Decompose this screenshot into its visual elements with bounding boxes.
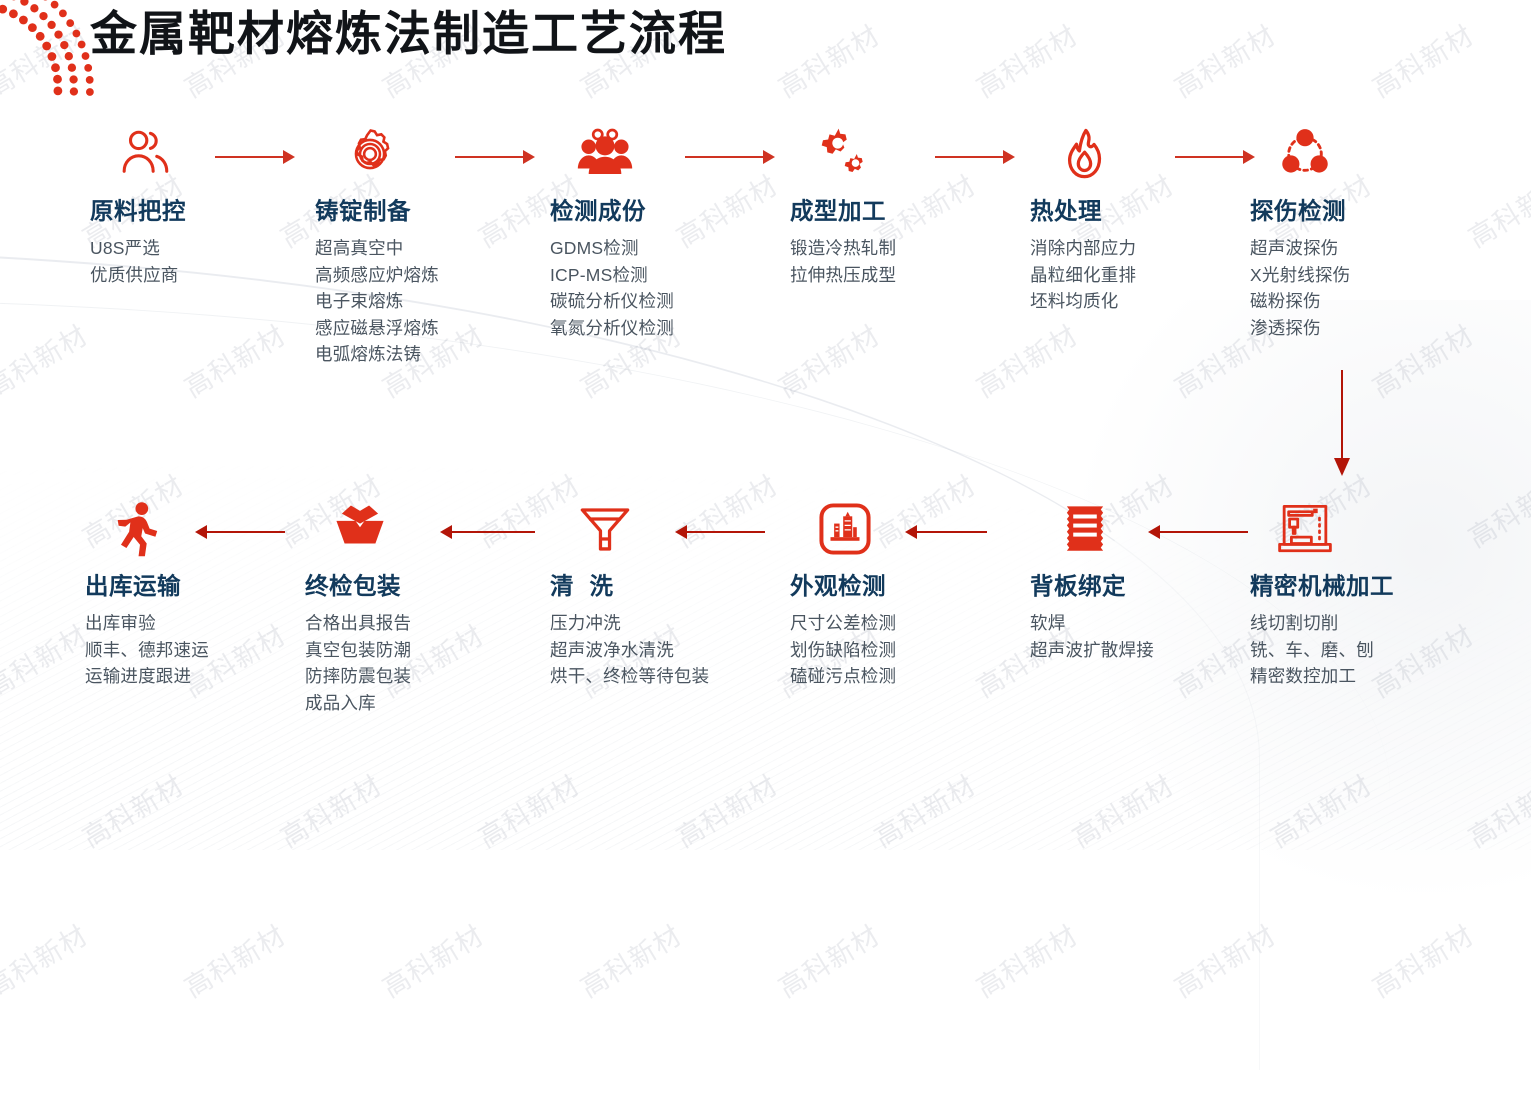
process-step-detail: 合格出具报告 (305, 610, 535, 637)
arrow-shaft (215, 156, 285, 158)
watermark-text: 高科新材 (176, 314, 292, 405)
process-step-detail: 顺丰、德邦速运 (85, 637, 315, 664)
process-step-detail-list: 线切割切削铣、车、磨、刨精密数控加工 (1250, 610, 1480, 690)
two-gears-icon (816, 125, 874, 183)
watermark-text: 高科新材 (176, 914, 292, 1005)
process-step-detail: X光射线探伤 (1250, 262, 1480, 289)
arrow-head (1148, 525, 1160, 539)
arc-dot (39, 12, 47, 20)
flame-icon (1056, 125, 1114, 183)
flow-arrow-right (935, 150, 1015, 164)
process-step-detail-list: 合格出具报告真空包装防潮防摔防震包装成品入库 (305, 610, 535, 716)
arrow-shaft (1175, 156, 1245, 158)
arrow-head (905, 525, 917, 539)
arrow-shaft (455, 156, 525, 158)
background-swoosh-curve-inner (0, 300, 1390, 1120)
arrow-shaft (935, 156, 1005, 158)
process-step-detail: 压力冲洗 (550, 610, 780, 637)
inspection-frame-icon (816, 500, 874, 558)
watermark-text: 高科新材 (1262, 764, 1378, 855)
arc-dot (86, 76, 94, 84)
process-step-detail: 线切割切削 (1250, 610, 1480, 637)
arrow-head (675, 525, 687, 539)
process-step-detail: U8S严选 (90, 235, 320, 262)
watermark-text: 高科新材 (968, 14, 1084, 105)
process-step-detail: 拉伸热压成型 (790, 262, 1020, 289)
walking-person-icon (111, 500, 169, 558)
arc-dot (78, 41, 86, 49)
two-people-icon (116, 125, 174, 183)
arc-dot (84, 64, 92, 72)
flow-arrow-right (215, 150, 295, 164)
arc-dot (51, 63, 60, 72)
process-step-detail-list: 锻造冷热轧制拉伸热压成型 (790, 235, 1020, 288)
process-step-detail: 电子束熔炼 (315, 288, 545, 315)
arc-dot (30, 4, 38, 12)
arrow-head (1243, 150, 1255, 164)
arrow-head (195, 525, 207, 539)
process-step-title: 检测成份 (550, 192, 780, 226)
gear-rings-icon (341, 125, 399, 183)
process-step-detail: 磁粉探伤 (1250, 288, 1480, 315)
arrow-shaft (685, 156, 765, 158)
arc-dot (9, 9, 18, 18)
process-step-detail: 氧氮分析仪检测 (550, 315, 780, 342)
flow-arrow-right (685, 150, 775, 164)
arrow-head (283, 150, 295, 164)
arc-dot (86, 88, 94, 96)
watermark-text: 高科新材 (770, 14, 886, 105)
watermark-text: 高科新材 (668, 764, 784, 855)
process-step-detail: 晶粒细化重排 (1030, 262, 1260, 289)
flow-arrow-left (905, 525, 987, 539)
arrow-shaft (205, 531, 285, 533)
flow-arrow-right (1175, 150, 1255, 164)
process-step-title: 出库运输 (85, 567, 315, 601)
process-step-detail: 出库审验 (85, 610, 315, 637)
process-step-detail: 软焊 (1030, 610, 1260, 637)
process-step-detail-list: 压力冲洗超声波净水清洗烘干、终检等待包装 (550, 610, 780, 690)
arc-dot (54, 87, 63, 96)
process-step-detail-list: 尺寸公差检测划伤缺陷检测磕碰污点检测 (790, 610, 1020, 690)
arc-dot (53, 75, 62, 84)
flow-arrow-left (1148, 525, 1248, 539)
watermark-text: 高科新材 (272, 764, 388, 855)
process-step-title: 探伤检测 (1250, 192, 1480, 226)
watermark-text: 高科新材 (0, 314, 94, 405)
backing-plate-icon (1056, 500, 1114, 558)
process-step-detail: 感应磁悬浮熔炼 (315, 315, 545, 342)
watermark-text: 高科新材 (968, 314, 1084, 405)
process-step-title: 精密机械加工 (1250, 567, 1480, 601)
process-step-detail: 防摔防震包装 (305, 663, 535, 690)
cnc-machine-icon (1276, 500, 1334, 558)
arc-dot (36, 32, 45, 41)
watermark-text: 高科新材 (0, 614, 94, 705)
watermark-text: 高科新材 (968, 914, 1084, 1005)
process-step-title: 成型加工 (790, 192, 1020, 226)
process-step-detail: 真空包装防潮 (305, 637, 535, 664)
arc-dot (51, 1, 59, 9)
arc-dot (28, 23, 37, 32)
process-step-detail: 超声波净水清洗 (550, 637, 780, 664)
arc-dot (82, 52, 90, 60)
process-step-detail: ICP-MS检测 (550, 262, 780, 289)
watermark-text: 高科新材 (1364, 914, 1480, 1005)
arc-dot (20, 0, 28, 6)
open-box-icon (331, 500, 389, 558)
process-step-detail: 锻造冷热轧制 (790, 235, 1020, 262)
watermark-text: 高科新材 (1364, 14, 1480, 105)
arc-dot (19, 16, 28, 25)
watermark-text: 高科新材 (770, 314, 886, 405)
arrow-head (763, 150, 775, 164)
process-step-detail-list: 软焊超声波扩散焊接 (1030, 610, 1260, 663)
watermark-text: 高科新材 (74, 764, 190, 855)
watermark-text: 高科新材 (374, 914, 490, 1005)
arc-dot (59, 10, 67, 18)
header: 金属靶材熔炼法制造工艺流程 (90, 4, 727, 64)
process-step-detail: 超声波扩散焊接 (1030, 637, 1260, 664)
watermark-text: 高科新材 (0, 914, 94, 1005)
process-step-detail: 划伤缺陷检测 (790, 637, 1020, 664)
process-step-detail: 铣、车、磨、刨 (1250, 637, 1480, 664)
process-step-title: 清洗 (550, 567, 780, 601)
process-step-title: 外观检测 (790, 567, 1020, 601)
process-step-title: 铸锭制备 (315, 192, 545, 226)
process-step-title: 原料把控 (90, 192, 320, 226)
arc-dot (47, 21, 55, 29)
arrow-head (523, 150, 535, 164)
arc-dot (42, 42, 51, 51)
flow-arrow-vertical-down (1334, 370, 1350, 478)
process-step-detail: GDMS检测 (550, 235, 780, 262)
arrow-shaft (450, 531, 535, 533)
process-step[interactable]: 精密机械加工线切割切削铣、车、磨、刨精密数控加工 (1250, 500, 1480, 690)
arc-dot (65, 52, 73, 60)
process-step-detail: 坯料均质化 (1030, 288, 1260, 315)
arc-dot (48, 52, 57, 61)
arrow-shaft (685, 531, 765, 533)
watermark-text: 高科新材 (1166, 14, 1282, 105)
watermark-text: 高科新材 (770, 914, 886, 1005)
process-step-detail-list: GDMS检测ICP-MS检测碳硫分析仪检测氧氮分析仪检测 (550, 235, 780, 341)
process-step-detail: 电弧熔炼法铸 (315, 341, 545, 368)
arc-dot (0, 5, 7, 14)
flow-arrow-right (455, 150, 535, 164)
process-step-detail: 高频感应炉熔炼 (315, 262, 545, 289)
arc-dot (66, 19, 74, 27)
process-step-detail: 消除内部应力 (1030, 235, 1260, 262)
watermark-text: 高科新材 (1460, 764, 1531, 855)
three-nodes-icon (1276, 125, 1334, 183)
flow-arrow-left (675, 525, 765, 539)
process-step-title: 背板绑定 (1030, 567, 1260, 601)
page-title: 金属靶材熔炼法制造工艺流程 (90, 4, 727, 64)
process-step-detail: 成品入库 (305, 690, 535, 717)
arrow-shaft (1158, 531, 1248, 533)
process-step-detail: 尺寸公差检测 (790, 610, 1020, 637)
arrow-head (440, 525, 452, 539)
arc-dot (68, 64, 76, 72)
arc-dot (70, 87, 78, 95)
watermark-text: 高科新材 (1064, 764, 1180, 855)
process-step-detail: 超高真空中 (315, 235, 545, 262)
arc-dot (60, 41, 68, 49)
watermark-text: 高科新材 (470, 764, 586, 855)
process-step-detail: 渗透探伤 (1250, 315, 1480, 342)
watermark-text: 高科新材 (572, 914, 688, 1005)
process-step-detail: 烘干、终检等待包装 (550, 663, 718, 690)
process-step-detail: 超声波探伤 (1250, 235, 1480, 262)
process-step-detail-list: U8S严选优质供应商 (90, 235, 320, 288)
arc-dot (54, 30, 62, 38)
process-step-detail: 优质供应商 (90, 262, 320, 289)
watermark-text: 高科新材 (866, 764, 982, 855)
funnel-icon (576, 500, 634, 558)
arrow-shaft (1341, 370, 1343, 462)
process-step-detail-list: 出库审验顺丰、德邦速运运输进度跟进 (85, 610, 315, 690)
arrow-shaft (915, 531, 987, 533)
people-group-icon (576, 125, 634, 183)
arrow-head (1003, 150, 1015, 164)
arrow-head (1334, 458, 1350, 476)
process-step-detail-list: 超声波探伤X光射线探伤磁粉探伤渗透探伤 (1250, 235, 1480, 341)
process-step-detail: 精密数控加工 (1250, 663, 1480, 690)
arc-dot (73, 30, 81, 38)
flow-arrow-left (440, 525, 535, 539)
watermark-text: 高科新材 (1166, 914, 1282, 1005)
process-step-detail: 运输进度跟进 (85, 663, 315, 690)
flow-arrow-left (195, 525, 285, 539)
process-step[interactable]: 探伤检测超声波探伤X光射线探伤磁粉探伤渗透探伤 (1250, 125, 1480, 341)
process-step-detail-list: 超高真空中高频感应炉熔炼电子束熔炼感应磁悬浮熔炼电弧熔炼法铸 (315, 235, 545, 368)
process-step-detail: 磕碰污点检测 (790, 663, 1020, 690)
process-step-detail: 碳硫分析仪检测 (550, 288, 780, 315)
process-step-detail-list: 消除内部应力晶粒细化重排坯料均质化 (1030, 235, 1260, 315)
process-step-title: 热处理 (1030, 192, 1260, 226)
process-step-title: 终检包装 (305, 567, 535, 601)
arc-dot (69, 75, 77, 83)
